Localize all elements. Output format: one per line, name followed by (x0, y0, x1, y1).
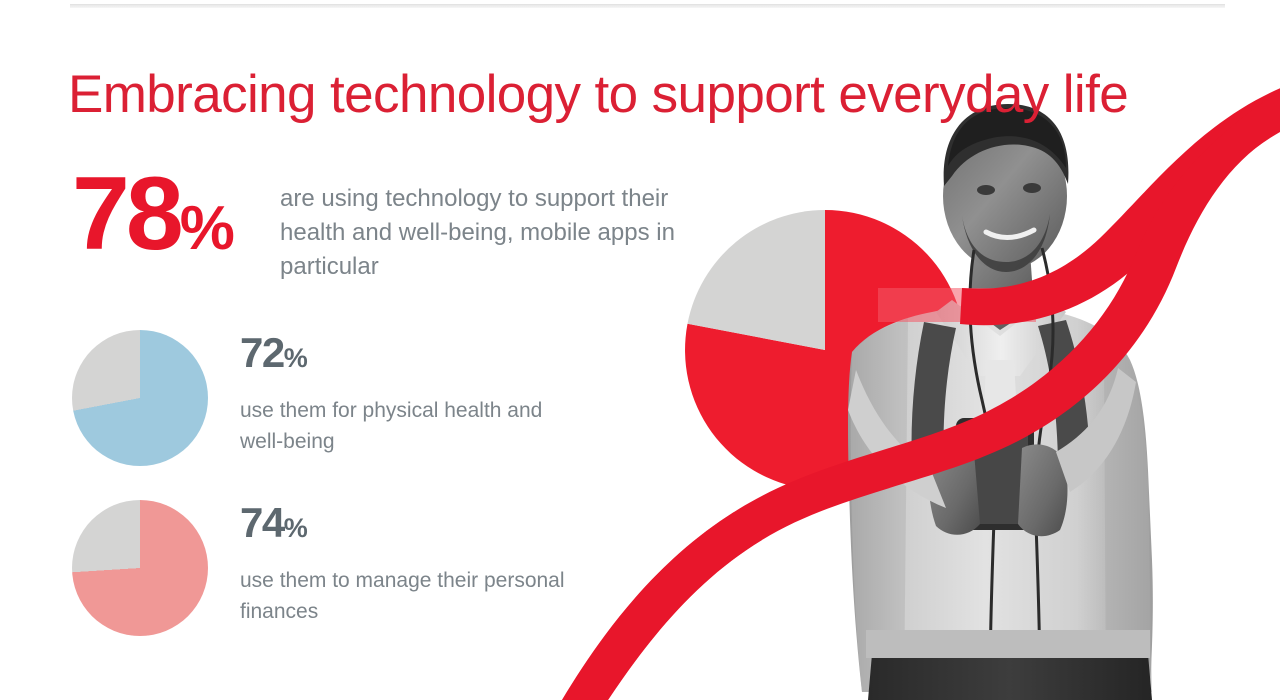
pie-chart-74 (72, 500, 208, 636)
stat-caption-74: use them to manage their personal financ… (240, 565, 590, 627)
stat-value-74: 74% (240, 500, 590, 551)
stat-percent-symbol-74: % (284, 513, 308, 543)
hero-stat-block: 78% are using technology to support thei… (72, 172, 672, 292)
hero-stat-value: 78% (72, 162, 233, 281)
stat-value-72: 72% (240, 330, 590, 381)
photo-eye-left (977, 185, 995, 195)
stat-caption-72: use them for physical health and well-be… (240, 395, 590, 457)
stat-body-72: 72% use them for physical health and wel… (240, 330, 590, 457)
hero-stat-percent-symbol: % (180, 194, 233, 263)
stat-percent-symbol-72: % (284, 343, 308, 373)
stat-body-74: 74% use them to manage their personal fi… (240, 500, 590, 627)
photo-pants (868, 654, 1152, 700)
hero-stat-number: 78 (72, 156, 180, 272)
stat-row-physical-health: 72% use them for physical health and wel… (70, 330, 590, 470)
photo-eye-right (1023, 183, 1041, 193)
stat-number-72: 72 (240, 329, 284, 376)
swoosh-lower-tail (562, 512, 762, 700)
photo-sweater-hem (866, 630, 1150, 658)
stat-number-74: 74 (240, 499, 284, 546)
stat-row-personal-finances: 74% use them to manage their personal fi… (70, 500, 590, 640)
infographic-page: Embracing technology to support everyday… (0, 0, 1280, 700)
pie-chart-72 (72, 330, 208, 466)
hero-stat-description: are using technology to support their he… (280, 182, 680, 284)
person-photo (848, 104, 1153, 700)
page-title: Embracing technology to support everyday… (68, 64, 1228, 126)
